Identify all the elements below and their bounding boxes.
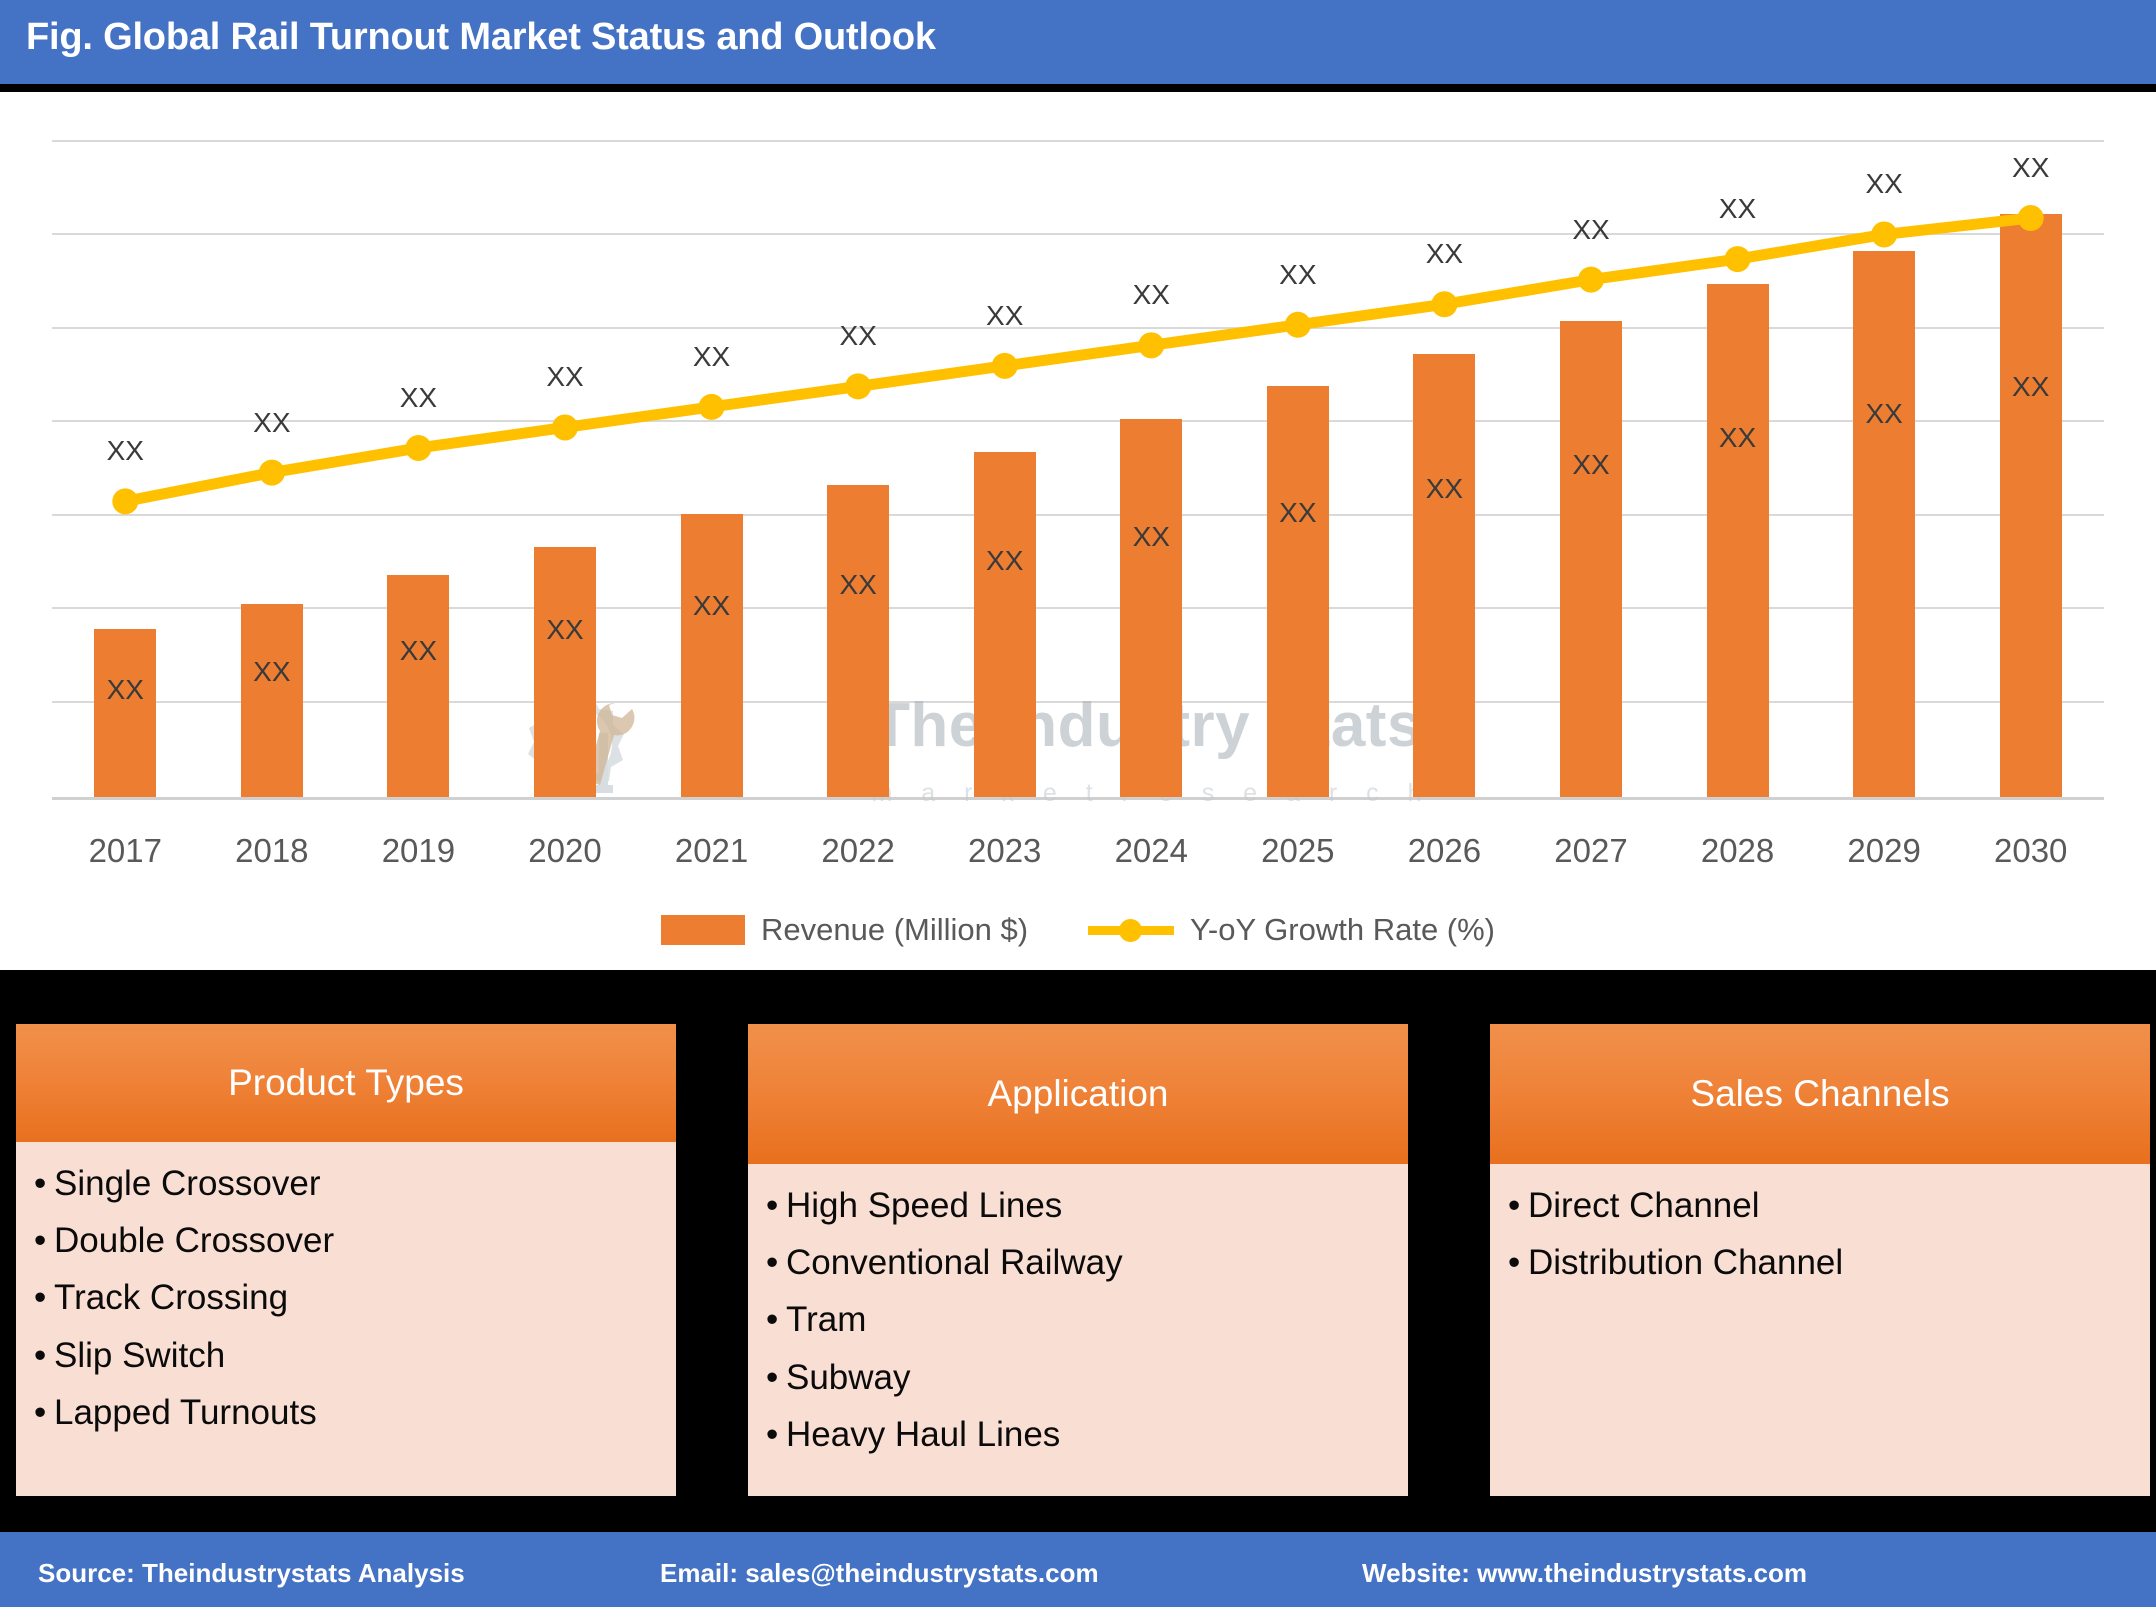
legend-entry-revenue[interactable]: Revenue (Million $) (661, 912, 1028, 948)
bullet-icon: • (34, 1278, 54, 1317)
x-tick-2025: 2025 (1238, 832, 1358, 870)
growth-value-label-2019: XX (373, 382, 463, 414)
bullet-icon: • (766, 1243, 786, 1282)
growth-line-series (52, 100, 2104, 820)
legend-label-revenue: Revenue (Million $) (761, 912, 1028, 948)
growth-point-2021 (699, 394, 725, 420)
footer-bar: Source: Theindustrystats Analysis Email:… (0, 1527, 2156, 1607)
x-tick-2030: 2030 (1971, 832, 2091, 870)
x-tick-2017: 2017 (65, 832, 185, 870)
panel-header: Application (748, 1024, 1408, 1164)
growth-point-2020 (552, 414, 578, 440)
legend-entry-growth[interactable]: Y-oY Growth Rate (%) (1088, 912, 1495, 948)
list-item-label: Tram (786, 1300, 866, 1339)
list-item-label: Heavy Haul Lines (786, 1415, 1060, 1454)
list-item-label: Track Crossing (54, 1278, 288, 1317)
panel-body: •High Speed Lines •Conventional Railway … (748, 1164, 1408, 1454)
list-item-label: Double Crossover (54, 1221, 334, 1260)
list-item-label: High Speed Lines (786, 1186, 1062, 1225)
growth-value-label-2018: XX (227, 407, 317, 439)
growth-point-2017 (112, 488, 138, 514)
list-item: •Distribution Channel (1508, 1243, 2132, 1282)
x-tick-2028: 2028 (1678, 832, 1798, 870)
growth-point-2024 (1138, 332, 1164, 358)
bullet-icon: • (766, 1186, 786, 1225)
bullet-icon: • (34, 1164, 54, 1203)
x-tick-2020: 2020 (505, 832, 625, 870)
list-item-label: Single Crossover (54, 1164, 321, 1203)
list-item: •Double Crossover (34, 1221, 658, 1260)
growth-point-2018 (259, 460, 285, 486)
plot-area: The Industry Stats m a r k e t r e s e a… (52, 100, 2104, 820)
list-item-label: Direct Channel (1528, 1186, 1760, 1225)
list-item: •Direct Channel (1508, 1186, 2132, 1225)
bullet-icon: • (1508, 1186, 1528, 1225)
growth-point-2025 (1285, 312, 1311, 338)
growth-value-label-2021: XX (667, 341, 757, 373)
panel-application: Application •High Speed Lines •Conventio… (748, 1024, 1408, 1496)
x-tick-2029: 2029 (1824, 832, 1944, 870)
footer-source: Source: Theindustrystats Analysis (38, 1558, 465, 1589)
list-item-label: Conventional Railway (786, 1243, 1123, 1282)
growth-point-2029 (1871, 221, 1897, 247)
bullet-icon: • (34, 1393, 54, 1432)
x-tick-2027: 2027 (1531, 832, 1651, 870)
list-item: •High Speed Lines (766, 1186, 1390, 1225)
bullet-icon: • (766, 1415, 786, 1454)
chart-panel: The Industry Stats m a r k e t r e s e a… (0, 92, 2156, 976)
growth-value-label-2026: XX (1399, 238, 1489, 270)
growth-point-2026 (1431, 291, 1457, 317)
footer-website: Website: www.theindustrystats.com (1362, 1558, 1807, 1589)
panel-sales-channels: Sales Channels •Direct Channel •Distribu… (1490, 1024, 2150, 1496)
footer-email: Email: sales@theindustrystats.com (660, 1558, 1099, 1589)
growth-point-2027 (1578, 267, 1604, 293)
list-item-label: Distribution Channel (1528, 1243, 1843, 1282)
growth-value-label-2027: XX (1546, 214, 1636, 246)
x-axis-labels: 2017201820192020202120222023202420252026… (52, 832, 2104, 886)
chart-legend: Revenue (Million $) Y-oY Growth Rate (%) (0, 900, 2156, 960)
growth-value-label-2017: XX (80, 435, 170, 467)
growth-value-label-2030: XX (1986, 152, 2076, 184)
bullet-icon: • (766, 1300, 786, 1339)
panel-title: Sales Channels (1690, 1073, 1949, 1115)
growth-point-2019 (405, 435, 431, 461)
growth-value-label-2020: XX (520, 361, 610, 393)
page-title: Fig. Global Rail Turnout Market Status a… (26, 16, 936, 59)
title-bar: Fig. Global Rail Turnout Market Status a… (0, 0, 2156, 88)
panel-title: Product Types (228, 1062, 464, 1104)
growth-value-label-2028: XX (1693, 193, 1783, 225)
x-tick-2022: 2022 (798, 832, 918, 870)
legend-swatch-revenue (661, 915, 745, 945)
bullet-icon: • (1508, 1243, 1528, 1282)
panel-header: Sales Channels (1490, 1024, 2150, 1164)
panel-title: Application (987, 1073, 1168, 1115)
list-item-label: Lapped Turnouts (54, 1393, 317, 1432)
x-tick-2018: 2018 (212, 832, 332, 870)
x-tick-2021: 2021 (652, 832, 772, 870)
list-item-label: Subway (786, 1358, 911, 1397)
panel-body: •Single Crossover •Double Crossover •Tra… (16, 1142, 676, 1432)
list-item: •Heavy Haul Lines (766, 1415, 1390, 1454)
bullet-icon: • (766, 1358, 786, 1397)
bullet-icon: • (34, 1336, 54, 1375)
x-tick-2023: 2023 (945, 832, 1065, 870)
legend-label-growth: Y-oY Growth Rate (%) (1190, 912, 1495, 948)
growth-point-2023 (992, 353, 1018, 379)
list-item: •Lapped Turnouts (34, 1393, 658, 1432)
growth-value-label-2024: XX (1106, 279, 1196, 311)
legend-marker-growth-icon (1088, 915, 1174, 945)
list-item: •Track Crossing (34, 1278, 658, 1317)
list-item-label: Slip Switch (54, 1336, 225, 1375)
list-item: •Subway (766, 1358, 1390, 1397)
bullet-icon: • (34, 1221, 54, 1260)
panel-header: Product Types (16, 1024, 676, 1142)
list-item: •Slip Switch (34, 1336, 658, 1375)
list-item: •Single Crossover (34, 1164, 658, 1203)
list-item: •Conventional Railway (766, 1243, 1390, 1282)
list-item: •Tram (766, 1300, 1390, 1339)
growth-value-label-2023: XX (960, 300, 1050, 332)
category-panels: Product Types •Single Crossover •Double … (0, 1000, 2156, 1510)
growth-point-2028 (1725, 246, 1751, 272)
growth-value-label-2025: XX (1253, 259, 1343, 291)
growth-value-label-2022: XX (813, 320, 903, 352)
growth-point-2030 (2018, 205, 2044, 231)
growth-value-label-2029: XX (1839, 168, 1929, 200)
x-tick-2019: 2019 (358, 832, 478, 870)
x-tick-2024: 2024 (1091, 832, 1211, 870)
growth-point-2022 (845, 373, 871, 399)
panel-body: •Direct Channel •Distribution Channel (1490, 1164, 2150, 1282)
x-tick-2026: 2026 (1384, 832, 1504, 870)
panel-product-types: Product Types •Single Crossover •Double … (16, 1024, 676, 1496)
